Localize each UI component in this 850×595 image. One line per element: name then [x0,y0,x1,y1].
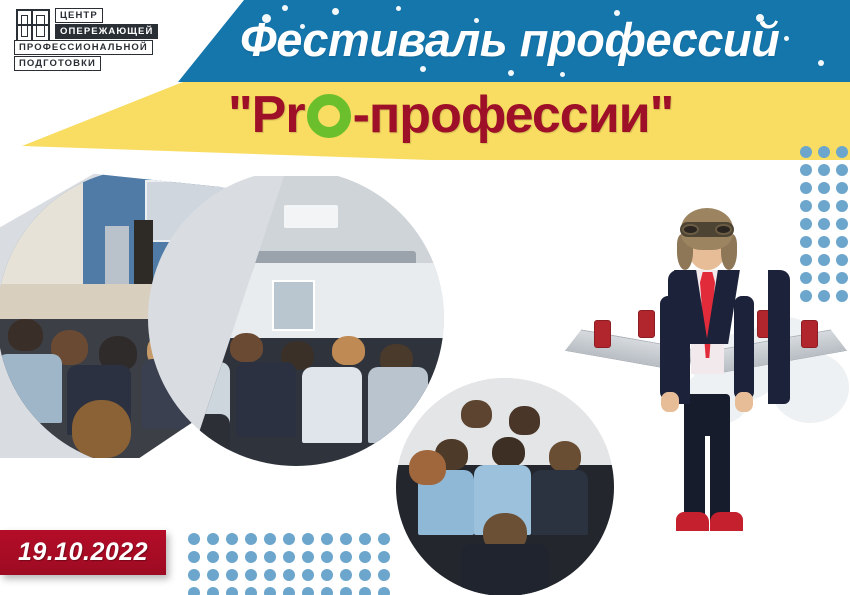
grid-dot [340,533,352,545]
grid-dot [800,218,812,230]
grid-dot [378,551,390,563]
grid-dot [359,569,371,581]
grid-dot [836,218,848,230]
grid-dot [283,569,295,581]
dot-grid-bottom [188,533,397,595]
grid-dot [188,587,200,595]
speckle-dot [756,14,764,22]
speckle-dot [396,6,401,11]
grid-dot [226,569,238,581]
grid-dot [321,587,333,595]
date-badge: 19.10.2022 [0,530,166,575]
grid-dot [283,533,295,545]
grid-dot [836,200,848,212]
grid-dot [302,551,314,563]
speckle-dot [420,66,426,72]
aviator-goggles-icon [680,222,734,237]
speckle-dot [818,60,824,66]
grid-dot [800,200,812,212]
grid-dot [818,182,830,194]
grid-dot [207,551,219,563]
grid-dot [836,146,848,158]
grid-dot [302,569,314,581]
grid-dot [818,200,830,212]
grid-dot [264,533,276,545]
grid-dot [340,569,352,581]
grid-dot [836,254,848,266]
speckle-dot [690,30,695,35]
subtitle-part-before: "Pr [228,86,305,144]
speckle-dot [474,18,479,23]
grid-dot [818,164,830,176]
grid-dot [359,587,371,595]
subtitle-part-after: -профессии" [353,86,674,144]
grid-dot [245,551,257,563]
grid-dot [283,587,295,595]
speckle-dot [262,14,271,23]
grid-dot [818,218,830,230]
grid-dot [321,551,333,563]
speckle-dot [282,5,288,11]
green-o-ring-icon [307,94,351,138]
grid-dot [818,236,830,248]
grid-dot [800,164,812,176]
speckle-dot [332,8,339,15]
grid-dot [836,164,848,176]
page-subtitle: "Pr-профессии" [228,85,673,145]
grid-dot [378,587,390,595]
grid-dot [836,290,848,302]
poster-canvas: Фестиваль профессий "Pr-профессии" ЦЕНТР… [0,0,850,595]
speckle-dot [560,72,565,77]
sneaker-left [676,512,709,531]
grid-dot [245,569,257,581]
grid-dot [340,551,352,563]
grid-dot [283,551,295,563]
grid-dot [321,569,333,581]
grid-dot [800,254,812,266]
grid-dot [302,533,314,545]
grid-dot [800,236,812,248]
speckle-dot [508,70,514,76]
grid-dot [188,569,200,581]
grid-dot [226,587,238,595]
grid-dot [226,551,238,563]
grid-dot [378,569,390,581]
grid-dot [818,254,830,266]
logo-line-1: ЦЕНТР [55,8,103,23]
logo-line-2: ОПЕРЕЖАЮЩЕЙ [55,24,158,39]
grid-dot [302,587,314,595]
grid-dot [359,533,371,545]
dot-grid-right [800,146,850,308]
grid-dot [264,551,276,563]
grid-dot [800,146,812,158]
grid-dot [207,587,219,595]
grid-dot [245,533,257,545]
grid-dot [836,236,848,248]
grid-dot [836,272,848,284]
logo-line-3: ПРОФЕССИОНАЛЬНОЙ [14,40,153,55]
speckle-dot [300,24,305,29]
grid-dot [245,587,257,595]
grid-dot [378,533,390,545]
grid-dot [800,290,812,302]
grid-dot [800,182,812,194]
grid-dot [818,146,830,158]
grid-dot [800,272,812,284]
grid-dot [818,272,830,284]
page-title: Фестиваль профессий [240,12,779,67]
grid-dot [264,587,276,595]
grid-dot [818,290,830,302]
grid-dot [188,533,200,545]
date-badge-label: 19.10.2022 [18,538,148,567]
grid-dot [359,551,371,563]
logo-line-4: ПОДГОТОВКИ [14,56,101,71]
speckle-dot [614,10,620,16]
grid-dot [188,551,200,563]
sneaker-right [710,512,743,531]
logo-text-block: ЦЕНТР ОПЕРЕЖАЮЩЕЙ ПРОФЕССИОНАЛЬНОЙ ПОДГО… [55,8,158,71]
grid-dot [340,587,352,595]
grid-dot [264,569,276,581]
grid-dot [836,182,848,194]
speckle-dot [784,36,789,41]
grid-dot [226,533,238,545]
logo[interactable]: ЦЕНТР ОПЕРЕЖАЮЩЕЙ ПРОФЕССИОНАЛЬНОЙ ПОДГО… [16,8,158,71]
grid-dot [207,533,219,545]
copp-grid-mark-icon [16,9,50,43]
grid-dot [321,533,333,545]
grid-dot [207,569,219,581]
